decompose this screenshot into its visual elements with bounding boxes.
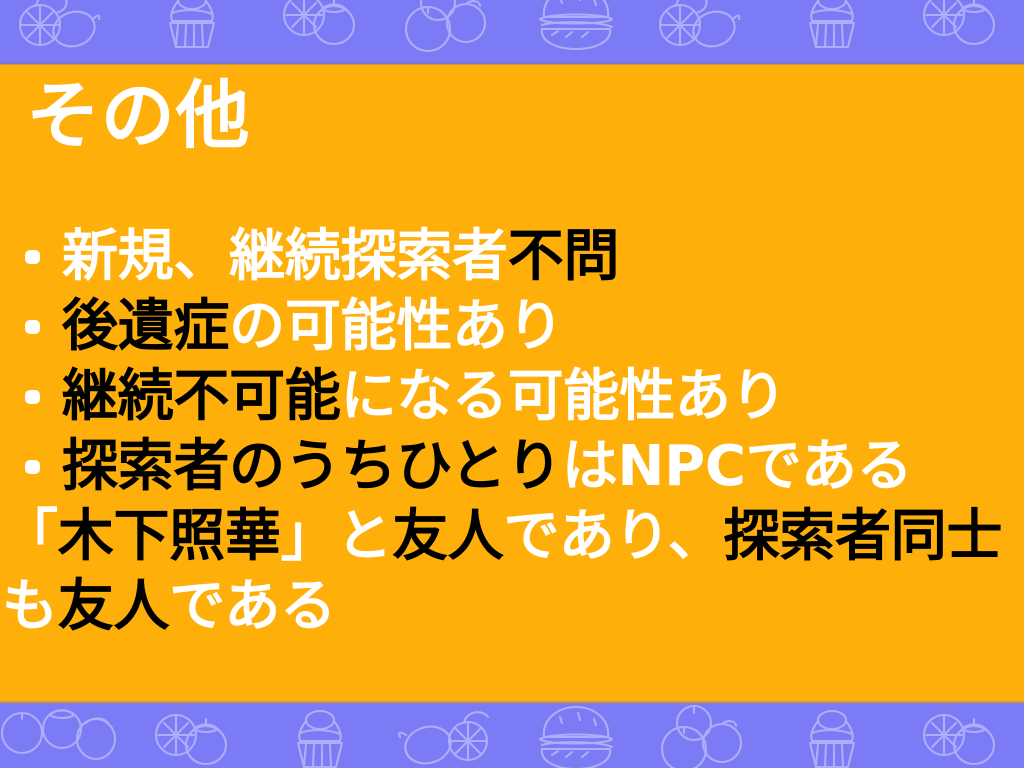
burger-icon (512, 703, 640, 768)
text-segment: になる可能性あり (341, 369, 787, 425)
lemon-slice-icon (640, 0, 768, 57)
cupcake-icon (768, 0, 896, 57)
motif-strip-top (0, 0, 1024, 50)
persimmon-apple-icon (896, 703, 1024, 768)
motif-strip-bottom (0, 705, 1024, 768)
persimmon-apple-icon (128, 703, 256, 768)
persimmon-apple-icon (896, 0, 1024, 57)
burger-icon (512, 0, 640, 57)
list-item: 後遺症 の可能性あり (0, 292, 1024, 362)
lemon-slice-icon (0, 0, 128, 57)
list-item-continuation: 「 木下照華 」と 友人 であり、 探索者同士 (0, 502, 1024, 572)
text-segment: 木下照華 (58, 509, 281, 565)
text-segment: 「 (2, 509, 58, 565)
orange-pair-icon (384, 0, 512, 57)
text-segment: も (2, 579, 58, 635)
bullet-marker-icon (25, 460, 40, 474)
slide-canvas: その他 新規、継続探索者 不問 後遺症 の可能性あり 継続不可能 になる可能性あ… (0, 0, 1024, 768)
orange-pair-icon (640, 703, 768, 768)
list-item: 探索者のうちひとり はNPCである (0, 432, 1024, 502)
top-band-seam (0, 62, 1024, 65)
orange-pair-icon (0, 703, 128, 768)
text-segment: である (169, 579, 336, 635)
bottom-decoration-band (0, 703, 1024, 768)
bullet-list: 新規、継続探索者 不問 後遺症 の可能性あり 継続不可能 になる可能性あり 探索… (0, 222, 1024, 642)
text-segment: 」と (281, 509, 392, 565)
text-segment: 新規、継続探索者 (62, 229, 508, 285)
top-decoration-band (0, 0, 1024, 64)
text-segment: の可能性あり (229, 299, 563, 355)
text-segment: 不問 (508, 229, 619, 285)
cupcake-icon (256, 703, 384, 768)
text-segment: 友人 (392, 509, 503, 565)
text-segment: 探索者のうちひとり (62, 439, 562, 495)
bullet-marker-icon (25, 250, 40, 264)
lemon-slice-icon (384, 703, 512, 768)
text-segment: 継続不可能 (62, 369, 341, 425)
bullet-marker-icon (25, 320, 40, 334)
list-item: 新規、継続探索者 不問 (0, 222, 1024, 292)
text-segment: はNPCである (562, 439, 913, 495)
list-item: 継続不可能 になる可能性あり (0, 362, 1024, 432)
cupcake-icon (768, 703, 896, 768)
list-item-continuation: も 友人 である (0, 572, 1024, 642)
persimmon-apple-icon (256, 0, 384, 57)
text-segment: であり、 (504, 509, 724, 565)
bullet-marker-icon (25, 390, 40, 404)
page-title: その他 (26, 78, 250, 156)
cupcake-icon (128, 0, 256, 57)
text-segment: 友人 (58, 579, 169, 635)
text-segment: 後遺症 (62, 299, 229, 355)
text-segment: 探索者同士 (724, 509, 1003, 565)
